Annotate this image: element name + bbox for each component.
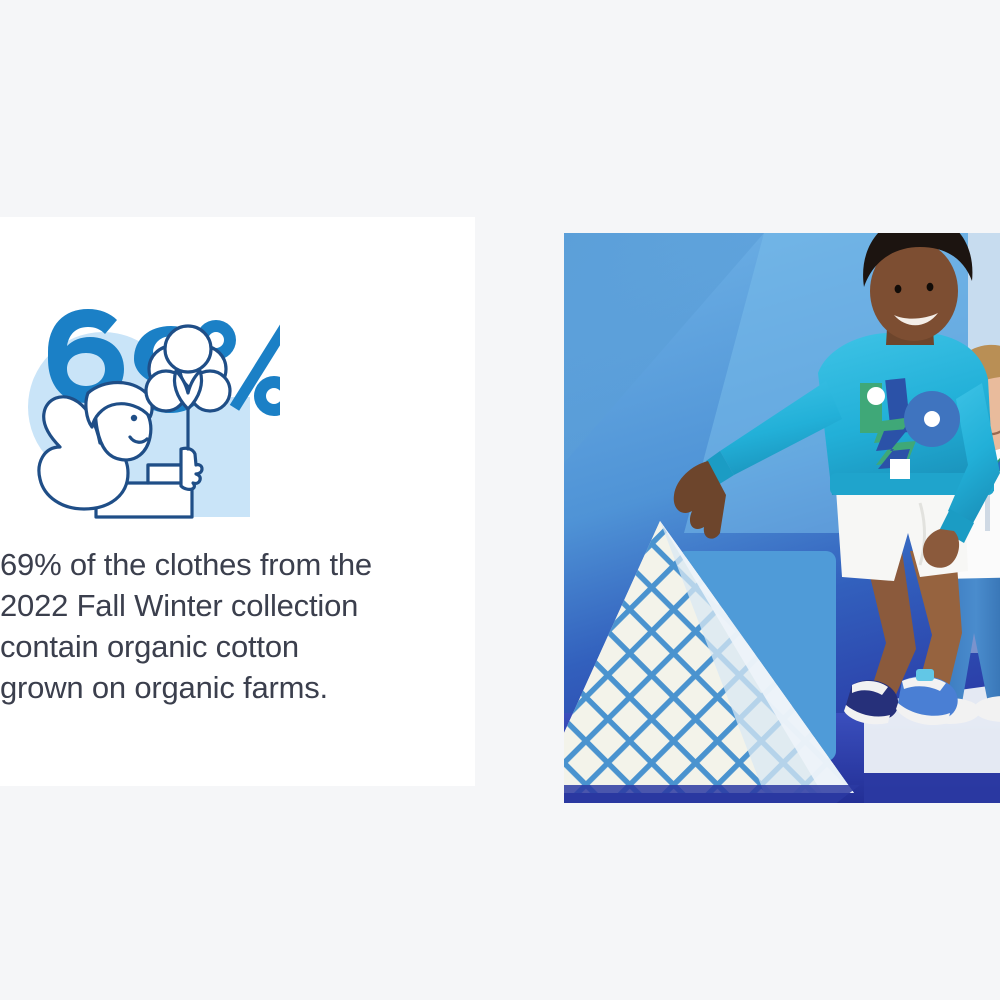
pyramid-base-shadow [564, 785, 860, 803]
floor-reflection [864, 773, 1000, 803]
page-stage: 69% of the clothes from the 2022 Fall Wi… [0, 0, 1000, 1000]
statistic-illustration [0, 297, 280, 542]
girl-eye [131, 415, 137, 421]
statistic-card: 69% of the clothes from the 2022 Fall Wi… [0, 217, 475, 786]
statistic-paragraph: 69% of the clothes from the 2022 Fall Wi… [0, 544, 520, 708]
campaign-photo [564, 233, 1000, 803]
